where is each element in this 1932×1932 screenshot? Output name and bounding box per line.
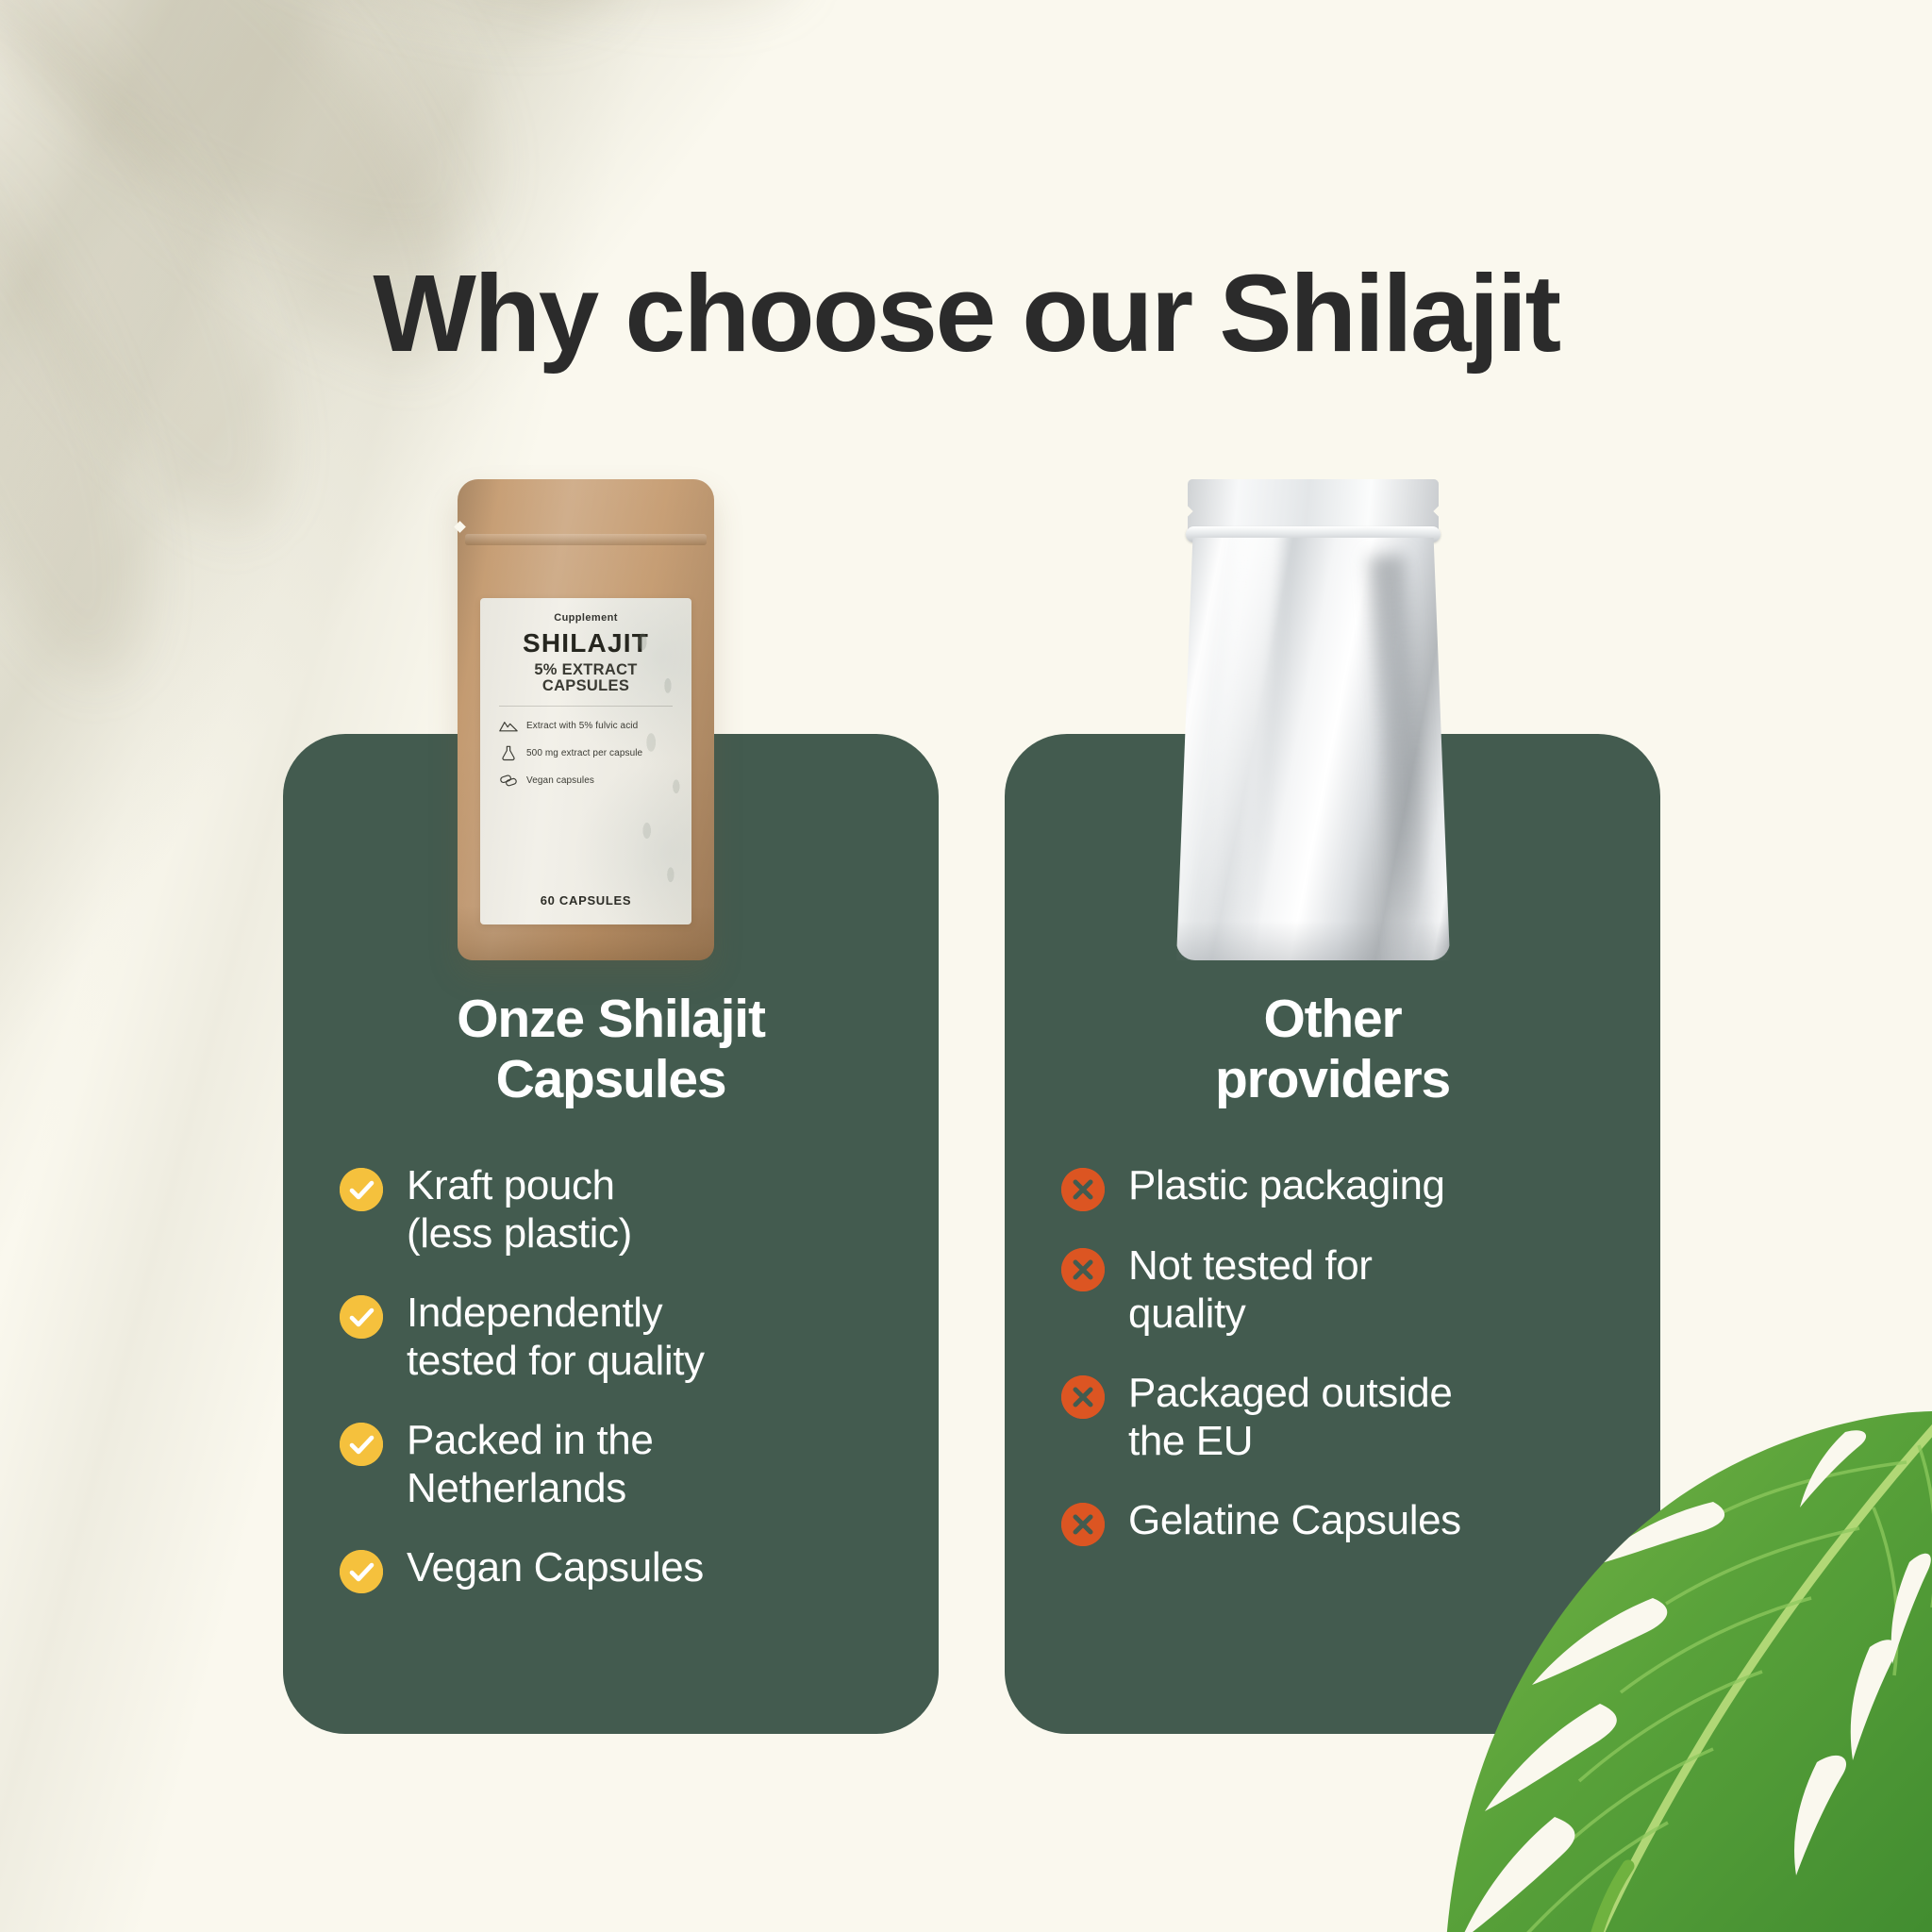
- flask-icon: [499, 744, 518, 761]
- silver-pouch-base-shadow: [1176, 921, 1450, 960]
- mountain-icon: [499, 717, 518, 734]
- product-image-silver-foil-pouch: [1176, 479, 1450, 960]
- product-image-kraft-pouch: Cupplement SHILAJIT 5% EXTRACT CAPSULES …: [458, 479, 714, 960]
- list-item: Packaged outside the EU: [1061, 1369, 1617, 1466]
- check-icon: [340, 1295, 383, 1339]
- list-item: Independently tested for quality: [340, 1289, 895, 1386]
- drawback-list-others: Plastic packaging Not tested for quality…: [1048, 1161, 1617, 1546]
- check-icon: [340, 1550, 383, 1593]
- list-item-label: Gelatine Capsules: [1128, 1496, 1461, 1544]
- cross-icon: [1061, 1168, 1105, 1211]
- list-item: Vegan Capsules: [340, 1543, 895, 1593]
- label-feature-text: Vegan capsules: [526, 775, 594, 786]
- list-item: Plastic packaging: [1061, 1161, 1617, 1211]
- list-item: Gelatine Capsules: [1061, 1496, 1617, 1546]
- list-item-label: Not tested for quality: [1128, 1241, 1373, 1339]
- label-feature-text: 500 mg extract per capsule: [526, 748, 642, 758]
- label-feature-text: Extract with 5% fulvic acid: [526, 721, 638, 731]
- list-item-label: Plastic packaging: [1128, 1161, 1445, 1209]
- card-title-ours: Onze Shilajit Capsules: [326, 989, 895, 1110]
- page-title: Why choose our Shilajit: [0, 258, 1932, 368]
- cross-icon: [1061, 1248, 1105, 1291]
- promo-graphic: Why choose our Shilajit Cupplement SHILA…: [0, 0, 1932, 1932]
- list-item-label: Kraft pouch (less plastic): [407, 1161, 632, 1258]
- list-item-label: Independently tested for quality: [407, 1289, 705, 1386]
- card-title-others: Other providers: [1048, 989, 1617, 1110]
- list-item-label: Vegan Capsules: [407, 1543, 704, 1591]
- check-icon: [340, 1168, 383, 1211]
- pouch-zip-seal: [465, 534, 707, 545]
- cross-icon: [1061, 1503, 1105, 1546]
- cross-icon: [1061, 1375, 1105, 1419]
- list-item: Packed in the Netherlands: [340, 1416, 895, 1513]
- list-item: Not tested for quality: [1061, 1241, 1617, 1339]
- label-botanical-ornament: [627, 604, 691, 919]
- check-icon: [340, 1423, 383, 1466]
- label-capsule-count: 60 CAPSULES: [480, 893, 691, 908]
- list-item: Kraft pouch (less plastic): [340, 1161, 895, 1258]
- capsule-icon: [499, 772, 518, 789]
- benefit-list-ours: Kraft pouch (less plastic) Independently…: [326, 1161, 895, 1593]
- silver-pouch-body: [1176, 538, 1450, 960]
- list-item-label: Packed in the Netherlands: [407, 1416, 653, 1513]
- list-item-label: Packaged outside the EU: [1128, 1369, 1452, 1466]
- product-label: Cupplement SHILAJIT 5% EXTRACT CAPSULES …: [480, 598, 691, 924]
- silver-pouch-header: [1188, 479, 1439, 530]
